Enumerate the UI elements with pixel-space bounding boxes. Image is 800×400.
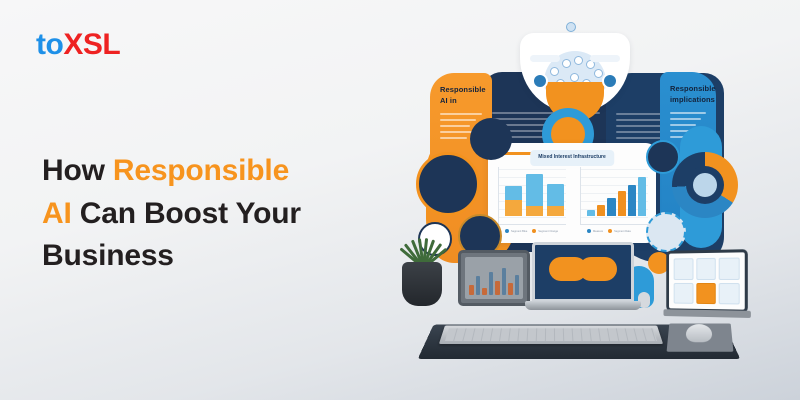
infinity-icon: [549, 257, 617, 281]
table-row: [547, 184, 564, 216]
table-row: [618, 191, 626, 216]
laptop[interactable]: [532, 242, 634, 310]
table-row: [587, 210, 595, 216]
laptop-screen: [532, 242, 634, 302]
chart-y-axis: [498, 167, 499, 225]
icon-grid: [674, 258, 740, 305]
brain-node-left-icon: [532, 73, 548, 89]
network-nodes-icon: [416, 152, 480, 216]
tablet-icon-grid[interactable]: [666, 249, 748, 313]
chart-y-axis: [580, 167, 581, 225]
grid-icon-chart[interactable]: [674, 282, 693, 303]
logo-text-to: to: [36, 28, 63, 61]
page-title: How Responsible AI Can Boost Your Busine…: [42, 150, 352, 278]
donut-gauge-chart: [672, 152, 738, 218]
home-icon[interactable]: [696, 282, 716, 304]
table-row: [607, 198, 615, 216]
laptop-base: [525, 301, 641, 310]
grid-icon-card[interactable]: [696, 258, 716, 280]
chart-card-badge: Mixed Interest Infrastructure: [530, 150, 614, 166]
chart-bar-group: [587, 170, 646, 216]
brain-node-right-icon: [602, 73, 618, 89]
tablet-bar-chart[interactable]: [458, 250, 530, 306]
logo-text-x: X: [63, 28, 83, 61]
legend-item: Segment Blue: [505, 229, 527, 233]
tablet-screen: [465, 257, 523, 299]
tablet-stand: [663, 309, 750, 318]
hero-illustration: Responsible implications Responsible AI …: [392, 0, 800, 400]
headline-line2-plain: Can Boost Your: [72, 197, 301, 230]
molecule-icon: [470, 118, 512, 160]
chart-x-axis: [580, 224, 648, 225]
headline-accent-ai: AI: [42, 197, 72, 230]
chart-x-axis: [498, 224, 566, 225]
legend-item: Segment Data: [608, 229, 631, 233]
panel-blue-title: Responsible implications: [670, 84, 708, 106]
grid-icon-document[interactable]: [674, 258, 693, 279]
grid-icon-window[interactable]: [719, 258, 740, 280]
headline-line3-plain: Business: [42, 239, 174, 272]
logo-text-sl: SL: [83, 28, 120, 61]
table-row: [526, 174, 543, 216]
chart-legend: Measure Segment Data: [587, 229, 646, 233]
chart-legend: Segment Blue Segment Orange: [505, 229, 564, 233]
keyboard[interactable]: [439, 325, 663, 344]
headline-accent-responsible: Responsible: [113, 154, 289, 187]
grid-icon-user[interactable]: [719, 283, 740, 305]
person-icon: [646, 212, 686, 252]
computer-mouse[interactable]: [686, 324, 713, 342]
panel-orange-title: Responsible AI in: [440, 85, 484, 107]
table-row: [628, 185, 636, 216]
banner-root: toXSL How Responsible AI Can Boost Your …: [0, 0, 800, 400]
legend-item: Segment Orange: [532, 229, 558, 233]
plant-pot: [402, 262, 442, 306]
table-row: [638, 177, 646, 216]
headline-line1-plain: How: [42, 154, 113, 187]
table-row: [597, 205, 605, 216]
chart-card: Mixed Interest Infrastructure: [488, 143, 656, 243]
brain-label-left: [530, 55, 560, 62]
chart-ascending-bars: Measure Segment Data: [580, 167, 648, 225]
toxsl-logo[interactable]: toXSL: [36, 30, 120, 60]
table-row: [505, 186, 522, 216]
brain-label-right: [590, 55, 620, 62]
lightbulb-icon: [566, 22, 576, 32]
chart-stacked-bars: Segment Blue Segment Orange: [498, 167, 566, 225]
legend-item: Measure: [587, 229, 603, 233]
chart-bar-group: [505, 170, 564, 216]
